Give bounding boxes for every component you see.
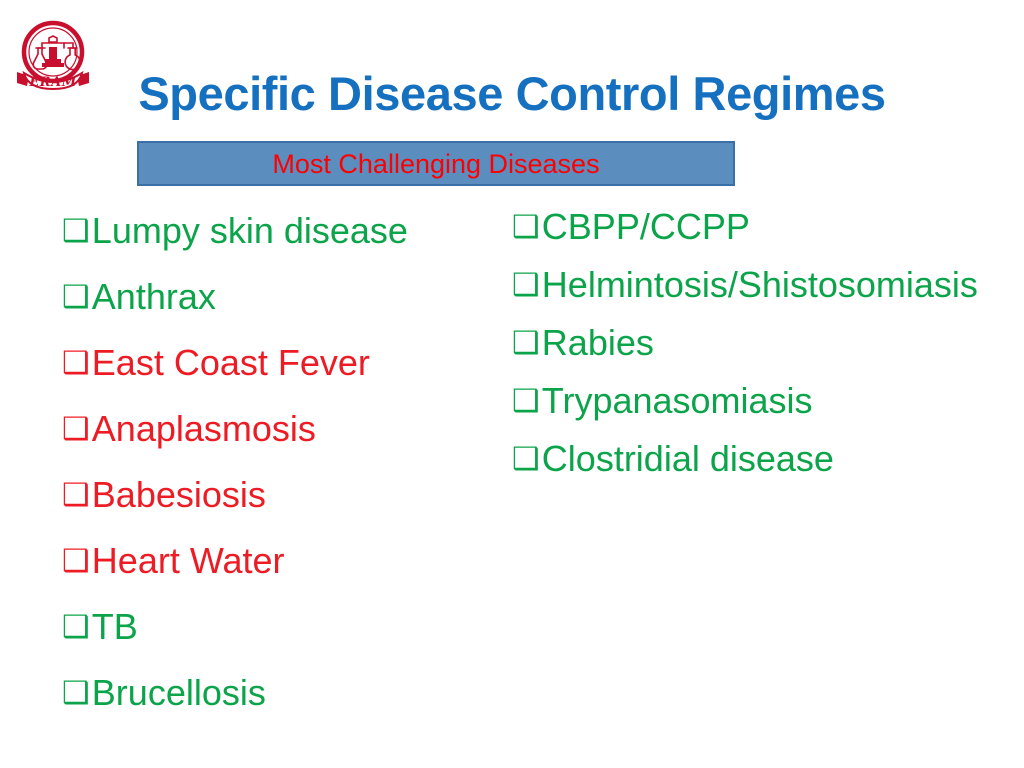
list-item-label: Trypanasomiasis (542, 372, 964, 430)
subtitle-banner-label: Most Challenging Diseases (272, 149, 599, 179)
list-item-label: Rabies (542, 314, 964, 372)
list-item[interactable]: ❑ Babesiosis (62, 462, 502, 528)
list-item-label: CBPP/CCPP (542, 198, 964, 256)
square-bullet-icon: ❑ (512, 430, 540, 488)
square-bullet-icon: ❑ (512, 314, 540, 372)
list-item-label: Babesiosis (92, 462, 502, 528)
square-bullet-icon: ❑ (62, 264, 90, 330)
square-bullet-icon: ❑ (62, 396, 90, 462)
square-bullet-icon: ❑ (512, 372, 540, 430)
list-item-label: Heart Water (92, 528, 502, 594)
list-item[interactable]: ❑ Heart Water (62, 528, 502, 594)
square-bullet-icon: ❑ (512, 256, 540, 314)
list-item-label: East Coast Fever (92, 330, 502, 396)
square-bullet-icon: ❑ (62, 528, 90, 594)
list-item[interactable]: ❑ Anthrax (62, 264, 502, 330)
list-item-label: TB (92, 594, 502, 660)
subtitle-banner: Most Challenging Diseases (137, 141, 735, 186)
list-item-label: Helmintosis/Shistosomiasis (542, 256, 978, 314)
list-item[interactable]: ❑ Brucellosis (62, 660, 502, 726)
square-bullet-icon: ❑ (62, 198, 90, 264)
list-item[interactable]: ❑ Clostridial disease (512, 430, 964, 488)
list-item[interactable]: ❑ East Coast Fever (62, 330, 502, 396)
disease-list-left: ❑ Lumpy skin disease ❑ Anthrax ❑ East Co… (62, 198, 502, 726)
square-bullet-icon: ❑ (62, 330, 90, 396)
list-item-label: Clostridial disease (542, 430, 964, 488)
list-item[interactable]: ❑ Anaplasmosis (62, 396, 502, 462)
square-bullet-icon: ❑ (62, 660, 90, 726)
list-item[interactable]: ❑ CBPP/CCPP (512, 198, 964, 256)
list-item[interactable]: ❑ Helmintosis/Shistosomiasis (512, 256, 964, 314)
slide-canvas: ERAM Specific Disease Control Regimes Mo… (0, 0, 1024, 768)
disease-list-right: ❑ CBPP/CCPP ❑ Helmintosis/Shistosomiasis… (512, 198, 964, 488)
list-item[interactable]: ❑ Rabies (512, 314, 964, 372)
page-title: Specific Disease Control Regimes (0, 66, 1024, 122)
list-item-label: Anthrax (92, 264, 502, 330)
list-item[interactable]: ❑ Trypanasomiasis (512, 372, 964, 430)
list-item[interactable]: ❑ Lumpy skin disease (62, 198, 502, 264)
list-item[interactable]: ❑ TB (62, 594, 502, 660)
square-bullet-icon: ❑ (62, 462, 90, 528)
list-item-label: Anaplasmosis (92, 396, 502, 462)
square-bullet-icon: ❑ (62, 594, 90, 660)
square-bullet-icon: ❑ (512, 198, 540, 256)
list-item-label: Brucellosis (92, 660, 502, 726)
list-item-label: Lumpy skin disease (92, 198, 502, 264)
